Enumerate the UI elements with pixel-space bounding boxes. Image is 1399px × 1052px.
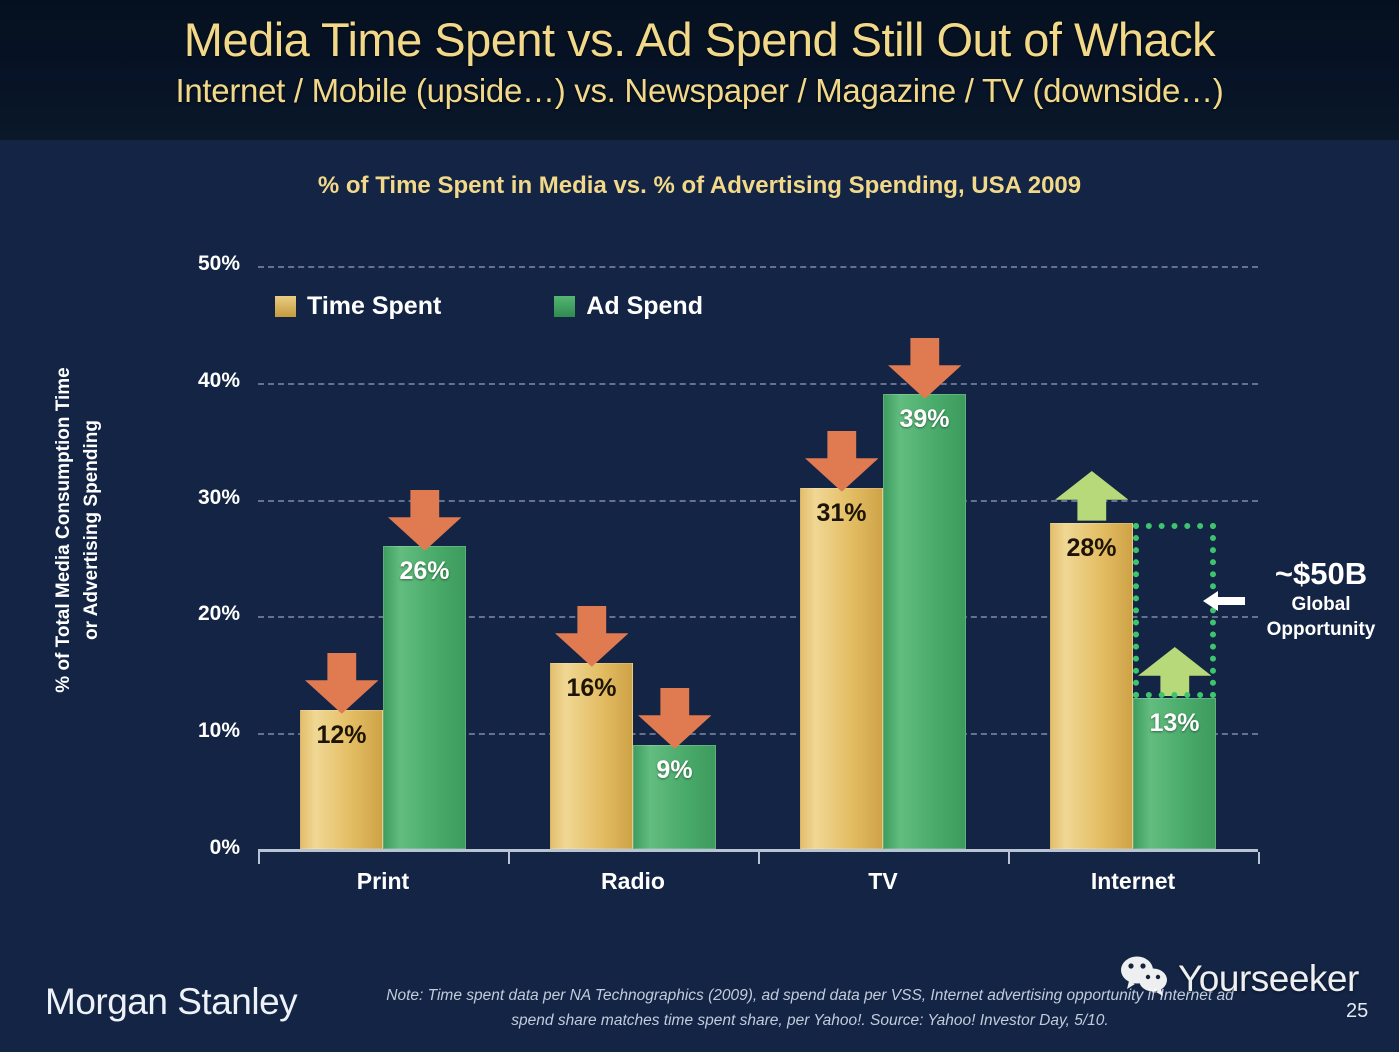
bar-tv-ad-spend[interactable]: 39% — [883, 394, 966, 849]
page-number: 25 — [1346, 1000, 1368, 1023]
y-axis-title-line1: % of Total Media Consumption Time — [53, 367, 74, 692]
opportunity-callout: ~$50B Global Opportunity — [1246, 556, 1396, 642]
y-axis-title-line2: or Advertising Spending — [81, 420, 102, 640]
bar-print-time-spent[interactable]: 12% — [300, 710, 383, 849]
bar-tv-time-spent[interactable]: 31% — [800, 488, 883, 849]
watermark-text: Yourseeker — [1178, 958, 1359, 1000]
x-axis-tick — [1258, 852, 1260, 864]
down-arrow-icon — [555, 606, 629, 672]
opportunity-arrow-icon — [1203, 588, 1245, 619]
slide-title: Media Time Spent vs. Ad Spend Still Out … — [0, 12, 1399, 67]
down-arrow-icon — [305, 653, 379, 719]
opportunity-sub-line2: Opportunity — [1246, 617, 1396, 642]
x-category-label-tv: TV — [773, 868, 993, 895]
x-category-label-print: Print — [273, 868, 493, 895]
up-arrow-icon — [1055, 471, 1129, 526]
x-axis-tick — [758, 852, 760, 864]
x-axis-tick — [508, 852, 510, 864]
chart-title: % of Time Spent in Media vs. % of Advert… — [0, 172, 1399, 200]
bar-radio-ad-spend[interactable]: 9% — [633, 745, 716, 849]
bar-value-label: 12% — [301, 721, 382, 750]
down-arrow-icon — [805, 431, 879, 497]
y-tick-label-30: 30% — [150, 486, 240, 510]
bar-internet-ad-spend[interactable]: 13% — [1133, 698, 1216, 849]
opportunity-sub-line1: Global — [1246, 592, 1396, 617]
y-tick-label-40: 40% — [150, 369, 240, 393]
footer-note-line1: Note: Time spent data per NA Technograph… — [386, 987, 1233, 1004]
down-arrow-icon — [638, 688, 712, 754]
down-arrow-icon — [388, 490, 462, 556]
footer-note-line2: spend share matches time spent share, pe… — [310, 1008, 1310, 1033]
gridline-50 — [258, 266, 1258, 268]
bar-value-label: 16% — [551, 674, 632, 703]
bar-value-label: 13% — [1134, 709, 1215, 738]
chart-plot-area: 12%26%16%9%31%39%28%13% — [258, 266, 1258, 850]
opportunity-amount: ~$50B — [1246, 556, 1396, 592]
x-category-label-internet: Internet — [1023, 868, 1243, 895]
bar-radio-time-spent[interactable]: 16% — [550, 663, 633, 849]
brand-logo: Morgan Stanley — [45, 981, 297, 1023]
y-tick-label-20: 20% — [150, 602, 240, 626]
bar-value-label: 39% — [884, 405, 965, 434]
slide-subtitle: Internet / Mobile (upside…) vs. Newspape… — [0, 72, 1399, 110]
x-category-label-radio: Radio — [523, 868, 743, 895]
y-tick-label-50: 50% — [150, 252, 240, 276]
bar-value-label: 31% — [801, 499, 882, 528]
y-tick-label-10: 10% — [150, 719, 240, 743]
bar-value-label: 28% — [1051, 534, 1132, 563]
y-axis-title: % of Total Media Consumption Time or Adv… — [50, 220, 110, 840]
bar-value-label: 9% — [634, 756, 715, 785]
x-axis-tick — [1008, 852, 1010, 864]
y-tick-label-0: 0% — [150, 836, 240, 860]
down-arrow-icon — [888, 338, 962, 404]
bar-value-label: 26% — [384, 557, 465, 586]
watermark: Yourseeker — [1120, 955, 1359, 1002]
x-axis-tick — [258, 852, 260, 864]
bar-print-ad-spend[interactable]: 26% — [383, 546, 466, 849]
bar-internet-time-spent[interactable]: 28% — [1050, 523, 1133, 849]
gridline-40 — [258, 383, 1258, 385]
wechat-icon — [1120, 955, 1172, 1002]
